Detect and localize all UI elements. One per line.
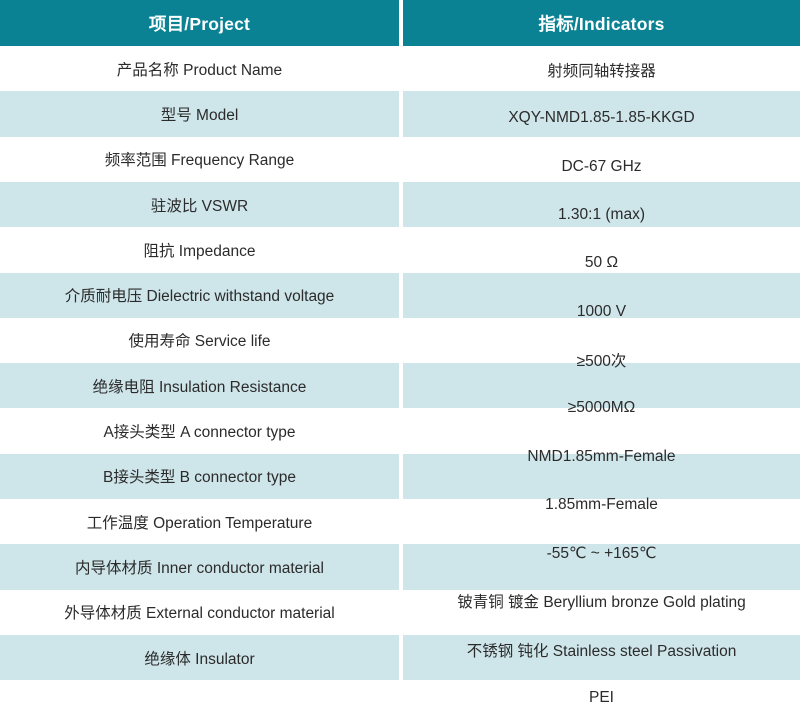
- project-column: 产品名称 Product Name型号 Model频率范围 Frequency …: [0, 46, 399, 680]
- cell-project: 外导体材质 External conductor material: [0, 590, 399, 635]
- cell-indicators: 50 Ω: [403, 239, 800, 287]
- column-header-project: 项目/Project: [0, 0, 399, 46]
- cell-project: 绝缘体 Insulator: [0, 635, 399, 680]
- indicators-column: 射频同轴转接器XQY-NMD1.85-1.85-KKGDDC-67 GHz1.3…: [403, 46, 800, 722]
- cell-indicators: 不锈钢 钝化 Stainless steel Passivation: [403, 626, 800, 674]
- specification-table: 项目/Project 指标/Indicators 产品名称 Product Na…: [0, 0, 800, 680]
- cell-indicators: ≥5000MΩ: [403, 384, 800, 432]
- column-header-indicators: 指标/Indicators: [403, 0, 800, 46]
- cell-project: B接头类型 B connector type: [0, 454, 399, 499]
- cell-indicators: 射频同轴转接器: [403, 46, 800, 94]
- cell-indicators: ≥500次: [403, 336, 800, 384]
- cell-indicators: DC-67 GHz: [403, 143, 800, 191]
- table-body: 产品名称 Product Name型号 Model频率范围 Frequency …: [0, 46, 800, 680]
- cell-project: 型号 Model: [0, 91, 399, 136]
- cell-project: 使用寿命 Service life: [0, 318, 399, 363]
- cell-project: A接头类型 A connector type: [0, 408, 399, 453]
- cell-indicators: -55℃ ~ +165℃: [403, 529, 800, 577]
- cell-project: 产品名称 Product Name: [0, 46, 399, 91]
- cell-indicators: PEI: [403, 674, 800, 722]
- cell-indicators: 1.30:1 (max): [403, 191, 800, 239]
- table-header-row: 项目/Project 指标/Indicators: [0, 0, 800, 46]
- cell-project: 绝缘电阻 Insulation Resistance: [0, 363, 399, 408]
- cell-indicators: 1.85mm-Female: [403, 481, 800, 529]
- cell-indicators: 铍青铜 镀金 Beryllium bronze Gold plating: [403, 577, 800, 625]
- cell-project: 阻抗 Impedance: [0, 227, 399, 272]
- cell-project: 内导体材质 Inner conductor material: [0, 544, 399, 589]
- cell-project: 频率范围 Frequency Range: [0, 137, 399, 182]
- cell-indicators: 1000 V: [403, 287, 800, 335]
- cell-project: 介质耐电压 Dielectric withstand voltage: [0, 272, 399, 317]
- cell-indicators: XQY-NMD1.85-1.85-KKGD: [403, 94, 800, 142]
- cell-indicators: NMD1.85mm-Female: [403, 432, 800, 480]
- cell-project: 工作温度 Operation Temperature: [0, 499, 399, 544]
- cell-project: 驻波比 VSWR: [0, 182, 399, 227]
